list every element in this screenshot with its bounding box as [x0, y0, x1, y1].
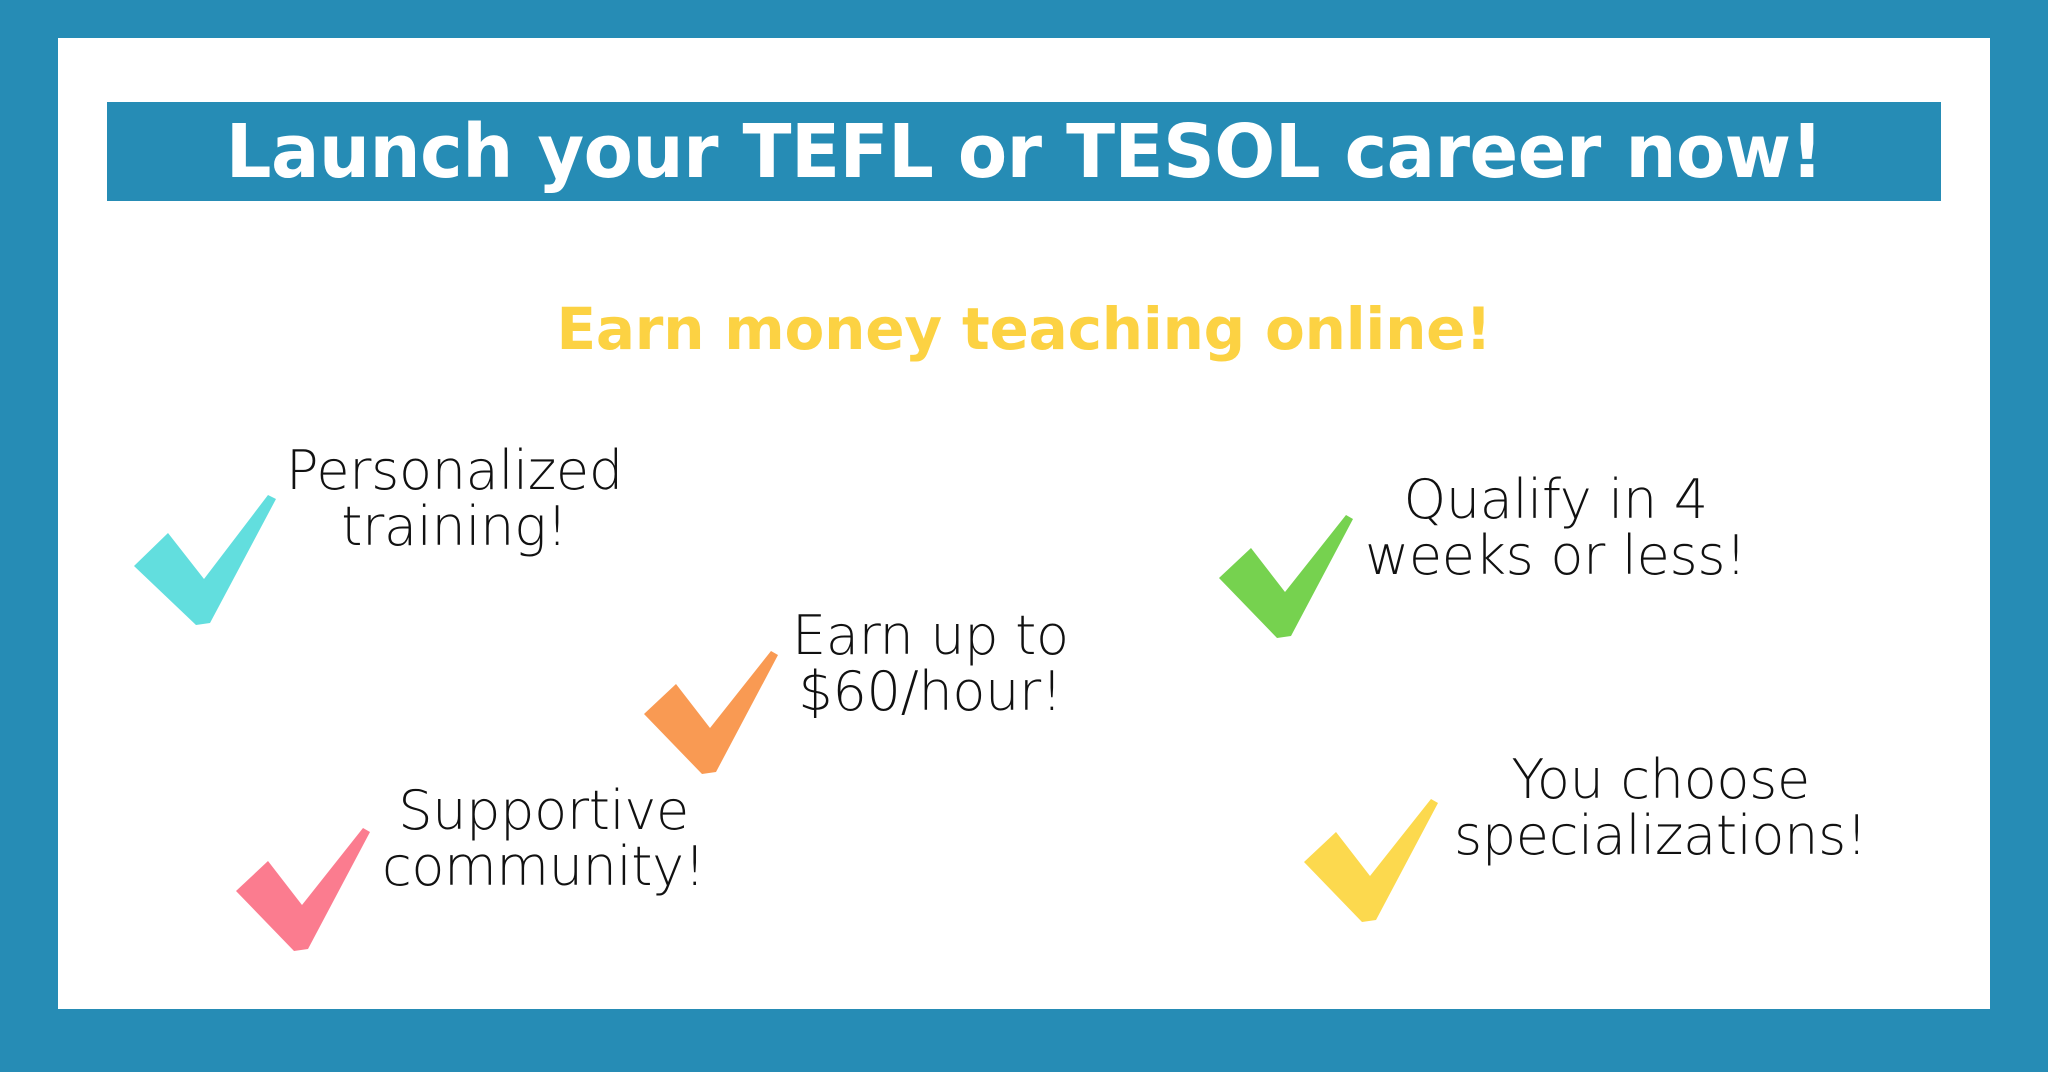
feature-specializations: You choose specializations! — [1300, 752, 1867, 928]
feature-community: Supportive community! — [232, 783, 705, 957]
headline-banner: Launch your TEFL or TESOL career now! — [107, 102, 1941, 201]
checkmark-icon — [1300, 796, 1440, 928]
subheadline: Earn money teaching online! — [0, 300, 2048, 358]
feature-label: Personalized training! — [286, 443, 623, 555]
feature-label: You choose specializations! — [1454, 752, 1867, 864]
feature-earn: Earn up to $60/hour! — [640, 608, 1069, 780]
promo-poster: Launch your TEFL or TESOL career now! Ea… — [0, 0, 2048, 1072]
checkmark-icon — [128, 491, 278, 631]
feature-personalized: Personalized training! — [128, 443, 623, 631]
feature-qualify: Qualify in 4 weeks or less! — [1215, 472, 1747, 644]
checkmark-icon — [232, 825, 372, 957]
page-title: Launch your TEFL or TESOL career now! — [225, 115, 1822, 189]
checkmark-icon — [640, 648, 780, 780]
feature-label: Supportive community! — [382, 783, 705, 895]
feature-label: Earn up to $60/hour! — [792, 608, 1069, 720]
checkmark-icon — [1215, 512, 1355, 644]
feature-label: Qualify in 4 weeks or less! — [1365, 472, 1747, 584]
